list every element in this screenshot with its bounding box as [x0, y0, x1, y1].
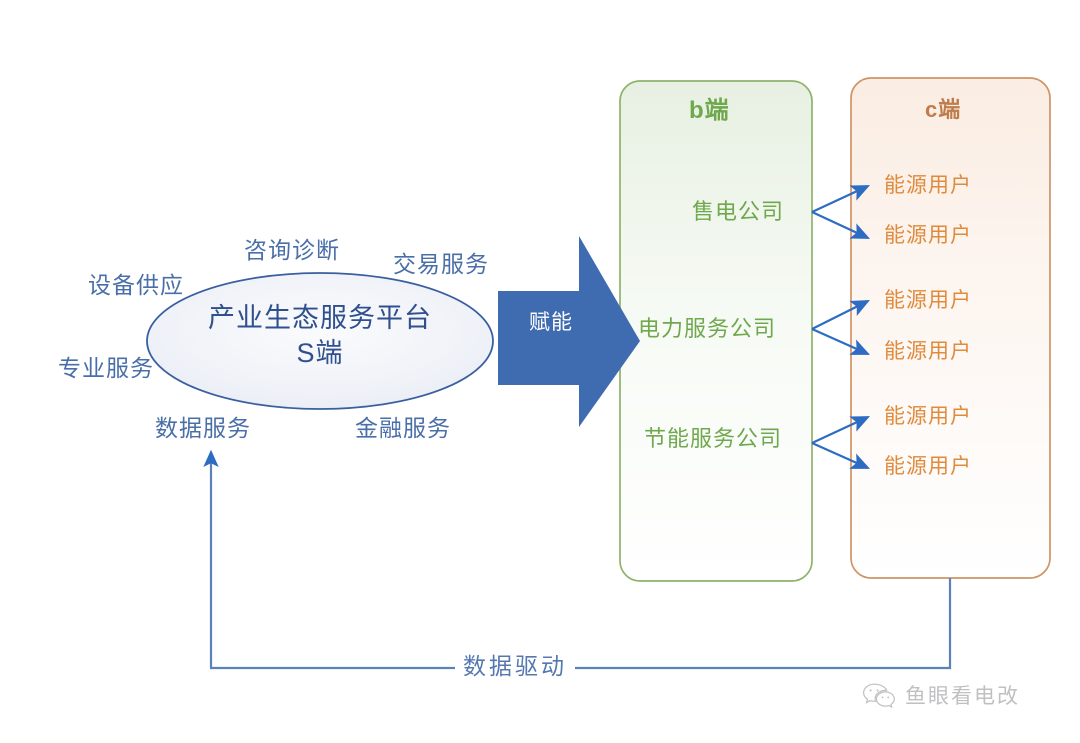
- platform-title-block: 产业生态服务平台 S端: [155, 303, 485, 369]
- b-panel-item-electricity-retailer: 售电公司: [692, 199, 784, 224]
- b-panel-item-energy-saving-company: 节能服务公司: [644, 426, 782, 451]
- service-label-data-service: 数据服务: [155, 415, 251, 441]
- service-label-financial-service: 金融服务: [355, 415, 451, 441]
- service-label-trading-service: 交易服务: [393, 251, 489, 277]
- platform-title: 产业生态服务平台: [208, 303, 432, 333]
- service-label-equipment-supply: 设备供应: [88, 272, 184, 298]
- enable-arrow-label: 赋能: [529, 311, 573, 335]
- c-panel-item-energy-user-1: 能源用户: [884, 174, 972, 198]
- feedback-label-data-driven: 数据驱动: [455, 653, 575, 679]
- b-panel-title: b端: [689, 97, 730, 125]
- watermark: 鱼眼看电改: [862, 680, 1020, 710]
- wechat-icon: [862, 682, 896, 708]
- c-panel-item-energy-user-3: 能源用户: [884, 289, 972, 313]
- diagram-canvas: 设备供应 咨询诊断 交易服务 专业服务 数据服务 金融服务 产业生态服务平台 S…: [0, 0, 1080, 743]
- b-panel-item-power-service-company: 电力服务公司: [638, 316, 776, 341]
- watermark-text: 鱼眼看电改: [905, 680, 1020, 710]
- diagram-vector-layer: [0, 0, 1080, 743]
- c-panel-title: c端: [925, 97, 961, 122]
- c-panel-item-energy-user-5: 能源用户: [884, 405, 972, 429]
- service-label-consulting-diagnosis: 咨询诊断: [244, 237, 340, 263]
- c-panel-item-energy-user-2: 能源用户: [884, 224, 972, 248]
- c-panel-item-energy-user-4: 能源用户: [884, 340, 972, 364]
- service-label-professional-service: 专业服务: [58, 355, 154, 381]
- c-panel-item-energy-user-6: 能源用户: [884, 455, 972, 479]
- platform-subtitle: S端: [155, 338, 485, 369]
